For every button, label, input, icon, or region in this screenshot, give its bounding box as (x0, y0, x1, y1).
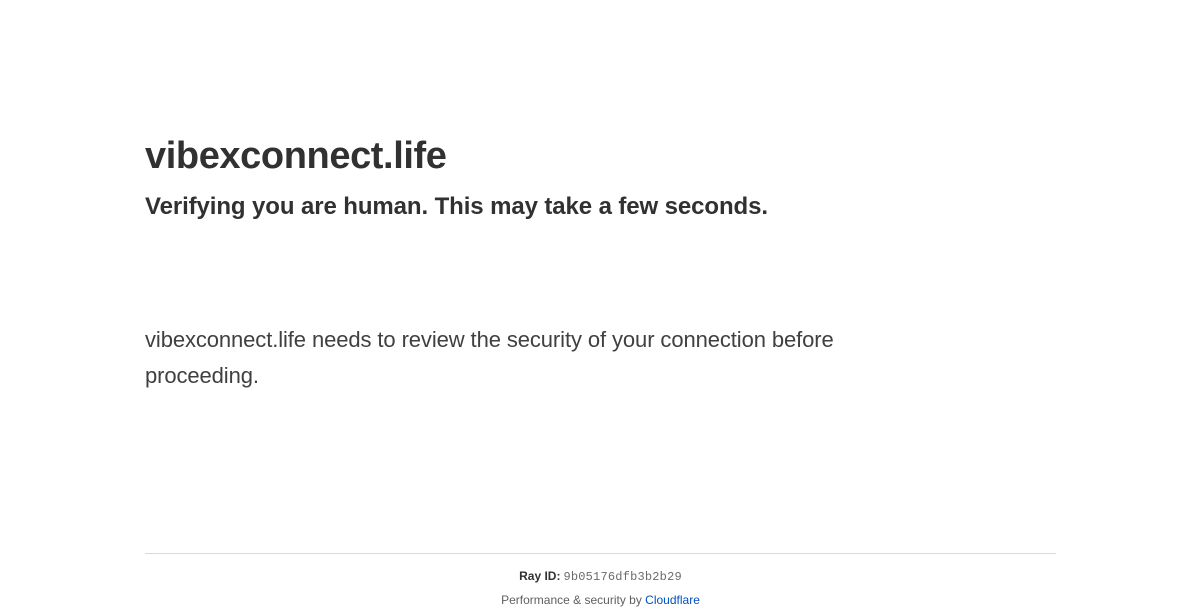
body-block: vibexconnect.life needs to review the se… (145, 322, 945, 394)
page-title: vibexconnect.life (145, 131, 1056, 181)
footer: Ray ID:9b05176dfb3b2b29 Performance & se… (145, 554, 1056, 607)
heading-block: vibexconnect.life Verifying you are huma… (145, 131, 1056, 223)
content-column: vibexconnect.life Verifying you are huma… (145, 0, 1056, 600)
challenge-page: vibexconnect.life Verifying you are huma… (0, 0, 1200, 600)
ray-id-row: Ray ID:9b05176dfb3b2b29 (145, 554, 1056, 584)
ray-id-value: 9b05176dfb3b2b29 (560, 570, 681, 584)
security-review-message: vibexconnect.life needs to review the se… (145, 322, 945, 394)
turnstile-challenge-widget[interactable] (145, 232, 465, 312)
attribution-row: Performance & security by Cloudflare (145, 584, 1056, 607)
attribution-prefix: Performance & security by (501, 593, 645, 607)
cloudflare-link[interactable]: Cloudflare (645, 593, 700, 607)
ray-id-label: Ray ID: (519, 569, 560, 583)
verification-status-text: Verifying you are human. This may take a… (145, 181, 1056, 223)
